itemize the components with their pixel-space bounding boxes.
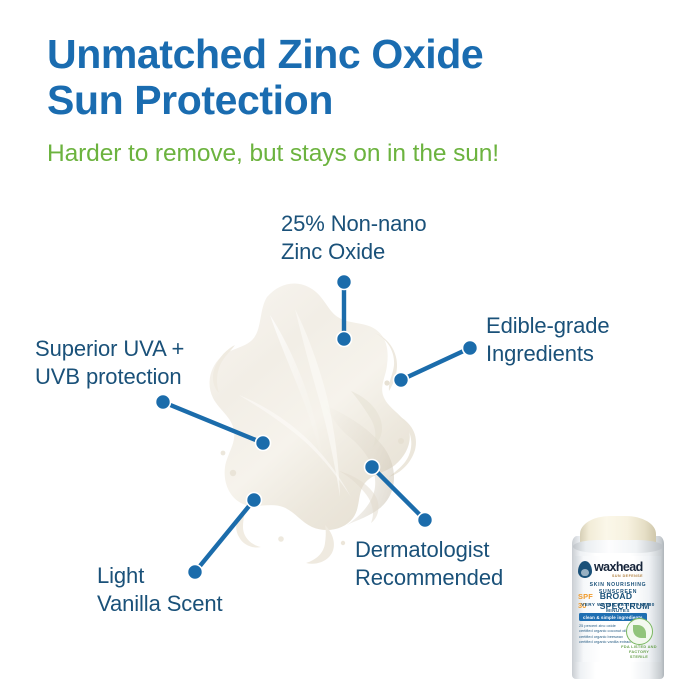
product-ingredient-item: certified organic vanilla extract (579, 639, 621, 644)
headline-line-2: Sun Protection (47, 77, 647, 123)
callout-edible-grade: Edible-grade Ingredients (486, 312, 610, 367)
callout-uv-protection: Superior UVA + UVB protection (35, 335, 184, 390)
callout-vanilla-scent: Light Vanilla Scent (97, 562, 222, 617)
callout-dermatologist-line-1: Dermatologist (355, 536, 503, 564)
callout-vanilla-scent-line-2: Vanilla Scent (97, 590, 222, 618)
product-ingredients-list: 25 percent zinc oxide certified organic … (579, 623, 621, 645)
callout-dermatologist: Dermatologist Recommended (355, 536, 503, 591)
product-seal-caption: FDA LISTED AND FACTORY STERILE (621, 644, 657, 660)
product-brand-name: waxhead (594, 560, 643, 574)
product-natural-seal-icon (626, 618, 653, 645)
callout-zinc-oxide: 25% Non-nano Zinc Oxide (281, 210, 427, 265)
callout-dermatologist-line-2: Recommended (355, 564, 503, 592)
product-sunscreen-stick: waxhead SUN DEFENSE SKIN NOURISHING SUNS… (566, 512, 670, 679)
callout-edible-grade-line-2: Ingredients (486, 340, 610, 368)
subheadline: Harder to remove, but stays on in the su… (47, 139, 499, 169)
product-label: waxhead SUN DEFENSE SKIN NOURISHING SUNS… (575, 556, 661, 662)
callout-zinc-oxide-line-2: Zinc Oxide (281, 238, 427, 266)
callout-zinc-oxide-line-1: 25% Non-nano (281, 210, 427, 238)
product-brand-tagline: SUN DEFENSE (612, 574, 643, 579)
callout-uv-protection-line-2: UVB protection (35, 363, 184, 391)
product-collar (573, 540, 663, 553)
zinc-oxide-cream-swatch (175, 275, 455, 580)
infographic-page: Unmatched Zinc Oxide Sun Protection Hard… (0, 0, 679, 679)
product-brand-lockup: waxhead SUN DEFENSE (578, 560, 658, 581)
leaf-icon (633, 625, 646, 638)
callout-uv-protection-line-1: Superior UVA + (35, 335, 184, 363)
headline-line-1: Unmatched Zinc Oxide (47, 31, 647, 77)
callout-vanilla-scent-line-1: Light (97, 562, 222, 590)
waxhead-logo-icon (578, 561, 592, 578)
page-title: Unmatched Zinc Oxide Sun Protection (47, 31, 647, 123)
callout-edible-grade-line-1: Edible-grade (486, 312, 610, 340)
product-seal-caption-line-2: FACTORY STERILE (621, 649, 657, 659)
